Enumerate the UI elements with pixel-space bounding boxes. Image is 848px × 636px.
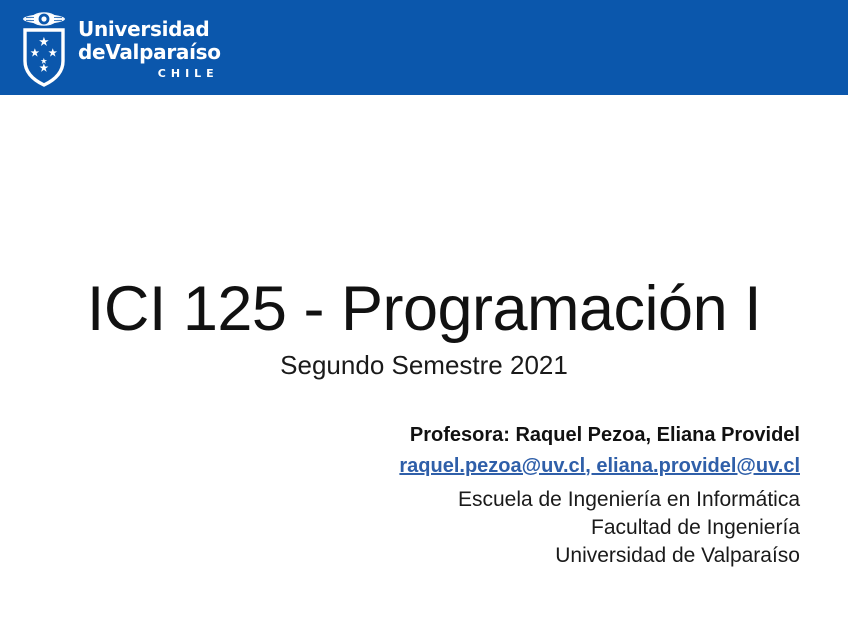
- logo-line-chile: CHILE: [78, 68, 221, 79]
- title-block: ICI 125 - Programación I Segundo Semestr…: [0, 276, 848, 381]
- title-slide: Universidad deValparaíso CHILE ICI 125 -…: [0, 0, 848, 636]
- university-logo: Universidad deValparaíso CHILE: [18, 6, 221, 90]
- header-band: Universidad deValparaíso CHILE: [0, 0, 848, 95]
- uv-shield-emblem-icon: [18, 6, 70, 90]
- course-subtitle: Segundo Semestre 2021: [0, 350, 848, 381]
- affiliation-line-faculty: Facultad de Ingeniería: [240, 514, 800, 542]
- affiliation-block: Escuela de Ingeniería en Informática Fac…: [240, 486, 800, 570]
- instructors-line: Profesora: Raquel Pezoa, Eliana Providel: [240, 423, 800, 449]
- course-title: ICI 125 - Programación I: [0, 276, 848, 342]
- logo-line-valparaiso: deValparaíso: [78, 42, 221, 62]
- affiliation-line-school: Escuela de Ingeniería en Informática: [240, 486, 800, 514]
- logo-line-universidad: Universidad: [78, 19, 221, 39]
- instructor-emails-link[interactable]: raquel.pezoa@uv.cl, eliana.providel@uv.c…: [240, 453, 800, 481]
- university-logo-text: Universidad deValparaíso CHILE: [78, 6, 221, 79]
- affiliation-line-university: Universidad de Valparaíso: [240, 542, 800, 570]
- info-block: Profesora: Raquel Pezoa, Eliana Providel…: [240, 423, 800, 570]
